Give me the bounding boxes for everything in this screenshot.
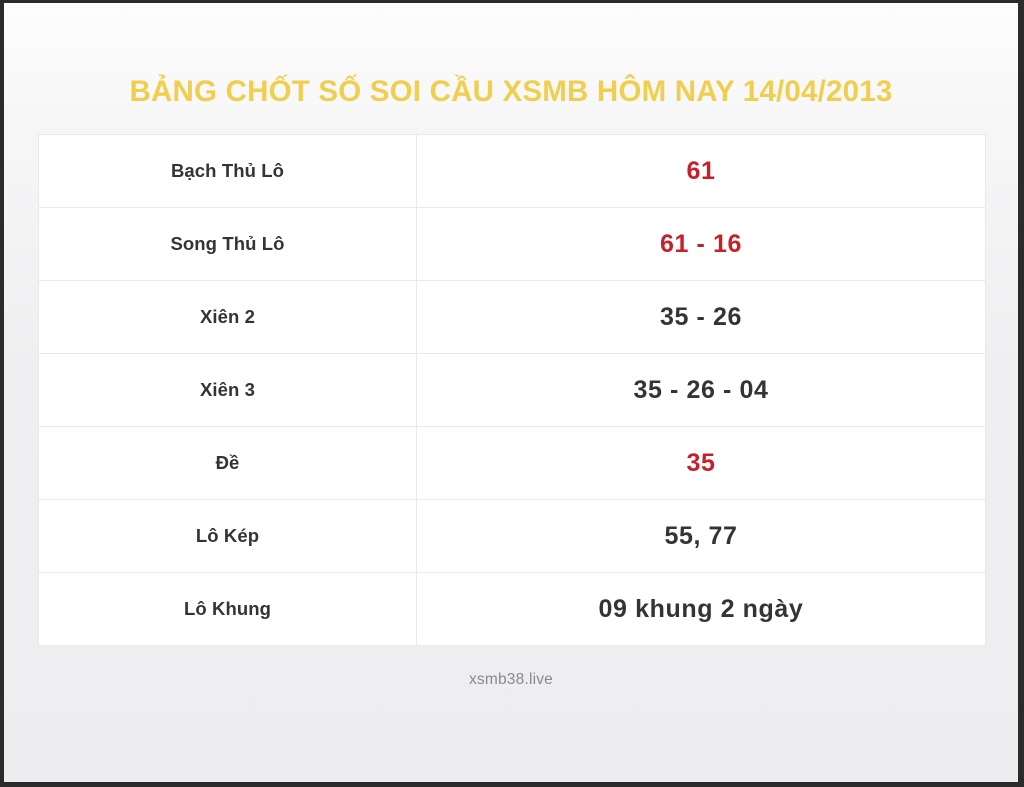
site-watermark: xsmb38.live <box>38 671 984 689</box>
row-label: Song Thủ Lô <box>39 208 417 281</box>
row-value: 61 <box>417 135 986 208</box>
page-title: BẢNG CHỐT SỐ SOI CẦU XSMB HÔM NAY 14/04/… <box>38 3 984 108</box>
table-row: Xiên 235 - 26 <box>39 281 986 354</box>
row-value: 61 - 16 <box>417 208 986 281</box>
row-label: Lô Khung <box>39 573 417 646</box>
row-value: 35 - 26 <box>417 281 986 354</box>
row-label: Đề <box>39 427 417 500</box>
row-label: Xiên 2 <box>39 281 417 354</box>
row-value: 09 khung 2 ngày <box>417 573 986 646</box>
table-row: Song Thủ Lô61 - 16 <box>39 208 986 281</box>
table-row: Lô Khung09 khung 2 ngày <box>39 573 986 646</box>
prediction-table: Bạch Thủ Lô61Song Thủ Lô61 - 16Xiên 235 … <box>38 134 986 646</box>
table-row: Đề35 <box>39 427 986 500</box>
table-row: Xiên 335 - 26 - 04 <box>39 354 986 427</box>
row-label: Lô Kép <box>39 500 417 573</box>
row-label: Xiên 3 <box>39 354 417 427</box>
content-container: BẢNG CHỐT SỐ SOI CẦU XSMB HÔM NAY 14/04/… <box>4 3 1018 782</box>
table-row: Bạch Thủ Lô61 <box>39 135 986 208</box>
table-row: Lô Kép55, 77 <box>39 500 986 573</box>
page-frame: BẢNG CHỐT SỐ SOI CẦU XSMB HÔM NAY 14/04/… <box>4 3 1018 782</box>
row-value: 55, 77 <box>417 500 986 573</box>
row-value: 35 <box>417 427 986 500</box>
row-label: Bạch Thủ Lô <box>39 135 417 208</box>
prediction-table-body: Bạch Thủ Lô61Song Thủ Lô61 - 16Xiên 235 … <box>39 135 986 646</box>
row-value: 35 - 26 - 04 <box>417 354 986 427</box>
